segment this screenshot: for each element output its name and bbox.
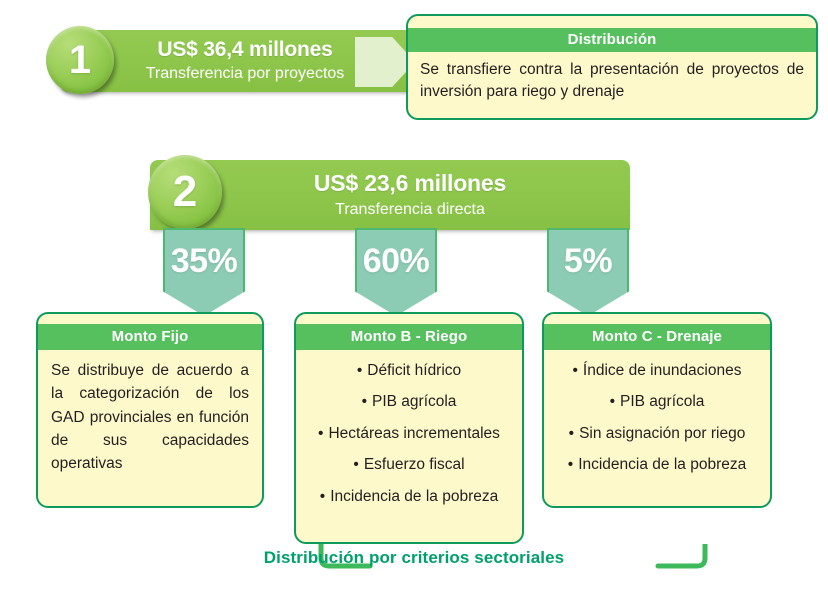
step-badge-1-number: 1 [69, 38, 91, 83]
percent-pennant-2-label: 60% [355, 228, 437, 316]
bar-1-subtitle: Transferencia por proyectos [130, 65, 360, 83]
monto-c-drenaje-list: Índice de inundaciones PIB agrícola Sin … [544, 350, 770, 477]
percent-pennant-3-label: 5% [547, 228, 629, 316]
list-item: PIB agrícola [304, 391, 514, 413]
step-badge-2: 2 [148, 155, 222, 229]
list-item: PIB agrícola [552, 391, 762, 413]
distribucion-card: Distribución Se transfiere contra la pre… [406, 14, 818, 120]
distribucion-card-body: Se transfiere contra la presentación de … [408, 52, 816, 104]
flow-bar-2: US$ 23,6 millones Transferencia directa [150, 160, 630, 230]
bar-2-subtitle: Transferencia directa [210, 201, 610, 219]
footer-caption: Distribución por criterios sectoriales [0, 548, 828, 568]
distribucion-card-header: Distribución [408, 28, 816, 52]
monto-fijo-card-header: Monto Fijo [38, 324, 262, 350]
list-item: Déficit hídrico [304, 360, 514, 382]
list-item: Incidencia de la pobreza [552, 454, 762, 476]
monto-b-riego-card-header: Monto B - Riego [296, 324, 522, 350]
bar-1-amount: US$ 36,4 millones [130, 38, 360, 62]
list-item: Esfuerzo fiscal [304, 454, 514, 476]
monto-c-drenaje-card-header: Monto C - Drenaje [544, 324, 770, 350]
monto-b-riego-card: Monto B - Riego Déficit hídrico PIB agrí… [294, 312, 524, 544]
step-badge-1: 1 [46, 26, 114, 94]
monto-b-riego-list: Déficit hídrico PIB agrícola Hectáreas i… [296, 350, 522, 508]
monto-fijo-card: Monto Fijo Se distribuye de acuerdo a la… [36, 312, 264, 508]
monto-c-drenaje-card: Monto C - Drenaje Índice de inundaciones… [542, 312, 772, 508]
list-item: Incidencia de la pobreza [304, 486, 514, 508]
bar-2-amount: US$ 23,6 millones [210, 170, 610, 197]
list-item: Sin asignación por riego [552, 423, 762, 445]
list-item: Índice de inundaciones [552, 360, 762, 382]
monto-fijo-card-body: Se distribuye de acuerdo a la categoriza… [38, 350, 262, 475]
percent-pennant-1-label: 35% [163, 228, 245, 316]
list-item: Hectáreas incrementales [304, 423, 514, 445]
step-badge-2-number: 2 [173, 167, 197, 217]
infographic-canvas: US$ 36,4 millones Transferencia por proy… [0, 0, 828, 589]
